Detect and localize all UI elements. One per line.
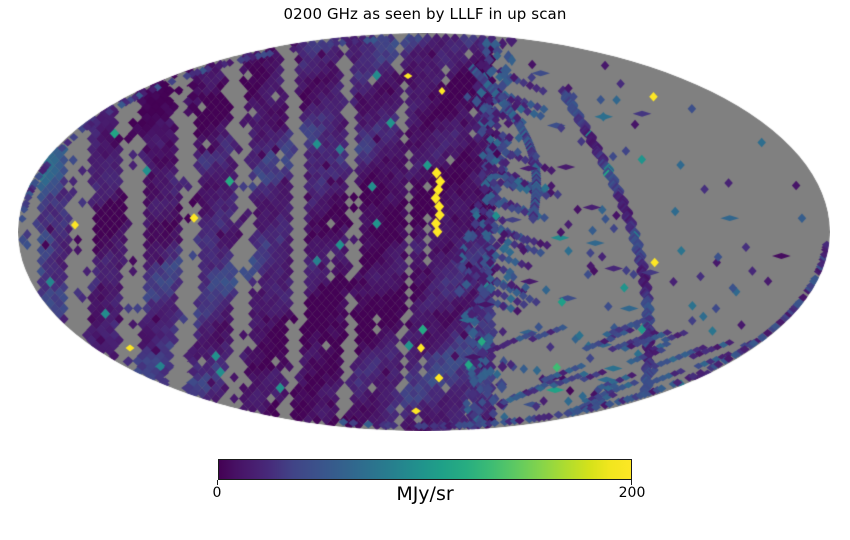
colorbar-unit-label: MJy/sr xyxy=(218,483,632,505)
chart-title: 0200 GHz as seen by LLLF in up scan xyxy=(0,5,850,23)
sky-map xyxy=(18,33,830,431)
figure-canvas: 0200 GHz as seen by LLLF in up scan 0 20… xyxy=(0,0,850,540)
mollweide-sky-map-canvas xyxy=(18,33,830,431)
colorbar-gradient xyxy=(218,459,632,480)
colorbar: 0 200 MJy/sr xyxy=(218,459,632,505)
